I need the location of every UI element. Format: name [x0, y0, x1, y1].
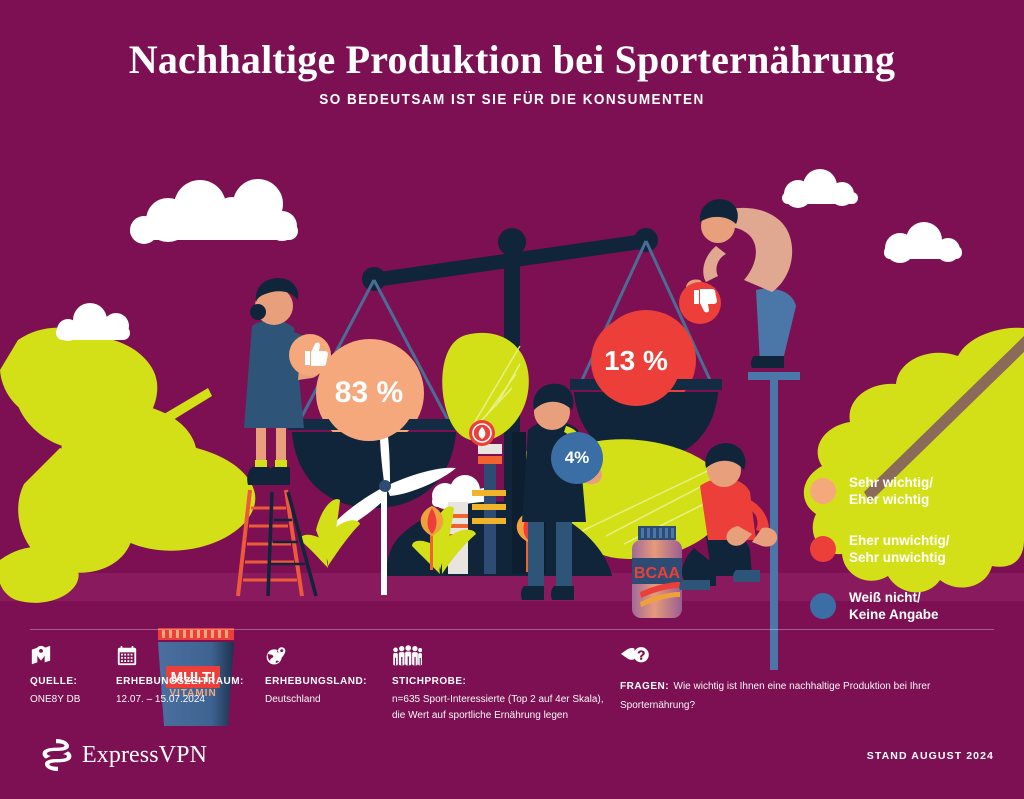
legend-swatch-blue: [810, 593, 836, 619]
meta-country: ERHEBUNGSLAND: Deutschland: [265, 645, 375, 708]
meta-country-body: Deutschland: [265, 692, 375, 708]
page-title: Nachhaltige Produktion bei Sporternährun…: [0, 0, 1024, 82]
meta-period-body: 12.07. – 15.07.2024: [116, 692, 251, 708]
value-label-83: 83 %: [321, 345, 417, 441]
meta-source-head: QUELLE:: [30, 676, 100, 687]
map-pin-icon: [30, 645, 52, 667]
meta-questions: FRAGEN: Wie wichtig ist Ihnen eine nachh…: [620, 645, 950, 713]
cloud-2: [56, 303, 130, 341]
cloud-1: [130, 179, 298, 244]
globe-pin-icon: [265, 645, 287, 667]
cloud-3: [782, 169, 858, 208]
value-label-13: 13 %: [591, 316, 681, 406]
legend-swatch-red: [810, 536, 836, 562]
question-speech-icon: [620, 645, 650, 667]
legend-swatch-peach: [810, 478, 836, 504]
meta-country-head: ERHEBUNGSLAND:: [265, 676, 375, 687]
legend: Sehr wichtig/ Eher wichtig Eher unwichti…: [810, 474, 1010, 647]
calendar-icon: [116, 645, 138, 667]
brand-name: ExpressVPN: [82, 742, 207, 769]
legend-label-2: Eher unwichtig/ Sehr unwichtig: [849, 532, 950, 567]
meta-period-head: ERHEBUNGSZEITRAUM:: [116, 676, 251, 687]
brand-lockup[interactable]: ExpressVPN: [42, 738, 207, 772]
meta-period: ERHEBUNGSZEITRAUM: 12.07. – 15.07.2024: [116, 645, 251, 708]
pole: [770, 380, 778, 670]
value-label-4: 4%: [551, 432, 603, 484]
expressvpn-logo-icon: [42, 738, 72, 772]
supplement-bottle: BCAA: [632, 526, 682, 618]
page-subtitle: SO BEDEUTSAM IST SIE FÜR DIE KONSUMENTEN: [36, 92, 988, 108]
infographic-canvas: Nachhaltige Produktion bei Sporternährun…: [0, 0, 1024, 799]
meta-sample-body: n=635 Sport-Interessierte (Top 2 auf 4er…: [392, 692, 607, 723]
legend-item-sehr-wichtig: Sehr wichtig/ Eher wichtig: [810, 474, 1010, 509]
legend-label-1: Sehr wichtig/ Eher wichtig: [849, 474, 933, 509]
footer-meta: QUELLE: ONE8Y DB ERHEBUNGSZEITRAUM: 12.0…: [0, 645, 1024, 735]
meta-source: QUELLE: ONE8Y DB: [30, 645, 100, 708]
meta-questions-head: FRAGEN:: [620, 681, 669, 692]
legend-item-weiss-nicht: Weiß nicht/ Keine Angabe: [810, 589, 1010, 624]
cloud-4: [884, 222, 962, 263]
decorative-leaf-left: [0, 328, 255, 573]
stand-date: STAND AUGUST 2024: [867, 750, 994, 762]
footer-divider: [30, 629, 994, 630]
meta-sample: STICHPROBE: n=635 Sport-Interessierte (T…: [392, 645, 607, 723]
bottle-label: BCAA: [634, 565, 681, 582]
meta-sample-head: STICHPROBE:: [392, 676, 607, 687]
legend-label-3: Weiß nicht/ Keine Angabe: [849, 589, 939, 624]
legend-item-eher-unwichtig: Eher unwichtig/ Sehr unwichtig: [810, 532, 1010, 567]
people-group-icon: [392, 645, 422, 667]
header: Nachhaltige Produktion bei Sporternährun…: [0, 0, 1024, 108]
meta-source-body: ONE8Y DB: [30, 692, 100, 708]
